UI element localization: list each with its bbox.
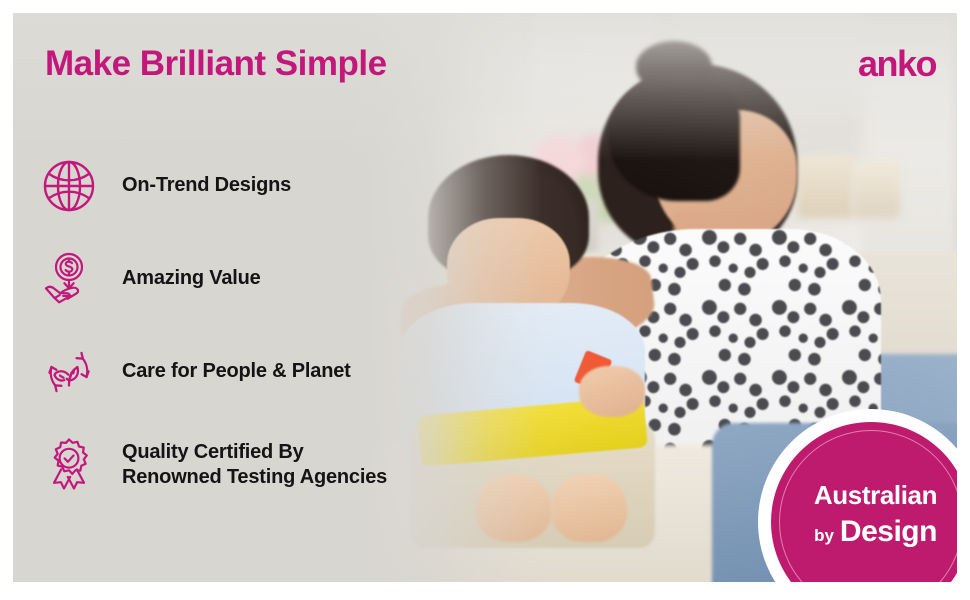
australian-by-design-badge: Australian by Design xyxy=(758,409,957,582)
globe-icon xyxy=(38,155,100,217)
badge-line-australian: Australian xyxy=(814,482,937,509)
banner-content: Make Brilliant Simple anko xyxy=(13,13,957,582)
recycle-leaf-icon xyxy=(38,341,100,403)
banner-stage: Make Brilliant Simple anko xyxy=(13,13,957,582)
badge-connector-by: by xyxy=(814,526,834,546)
anko-brand-banner: Make Brilliant Simple anko xyxy=(0,0,970,600)
list-item: On-Trend Designs xyxy=(38,139,468,232)
feature-list: On-Trend Designs xyxy=(38,139,468,511)
list-item-label: Amazing Value xyxy=(122,266,261,291)
page-title: Make Brilliant Simple xyxy=(45,44,387,84)
list-item-label: Care for People & Planet xyxy=(122,359,351,384)
anko-logo: anko xyxy=(858,46,936,82)
badge-line-design: Design xyxy=(840,515,937,549)
coin-in-hand-icon xyxy=(38,248,100,310)
list-item: Quality Certified By Renowned Testing Ag… xyxy=(38,418,468,511)
list-item: Amazing Value xyxy=(38,232,468,325)
badge-text: Australian by Design xyxy=(758,409,957,582)
list-item-label: Quality Certified By Renowned Testing Ag… xyxy=(122,440,387,490)
list-item: Care for People & Planet xyxy=(38,325,468,418)
list-item-label: On-Trend Designs xyxy=(122,173,291,198)
award-rosette-icon xyxy=(38,434,100,496)
